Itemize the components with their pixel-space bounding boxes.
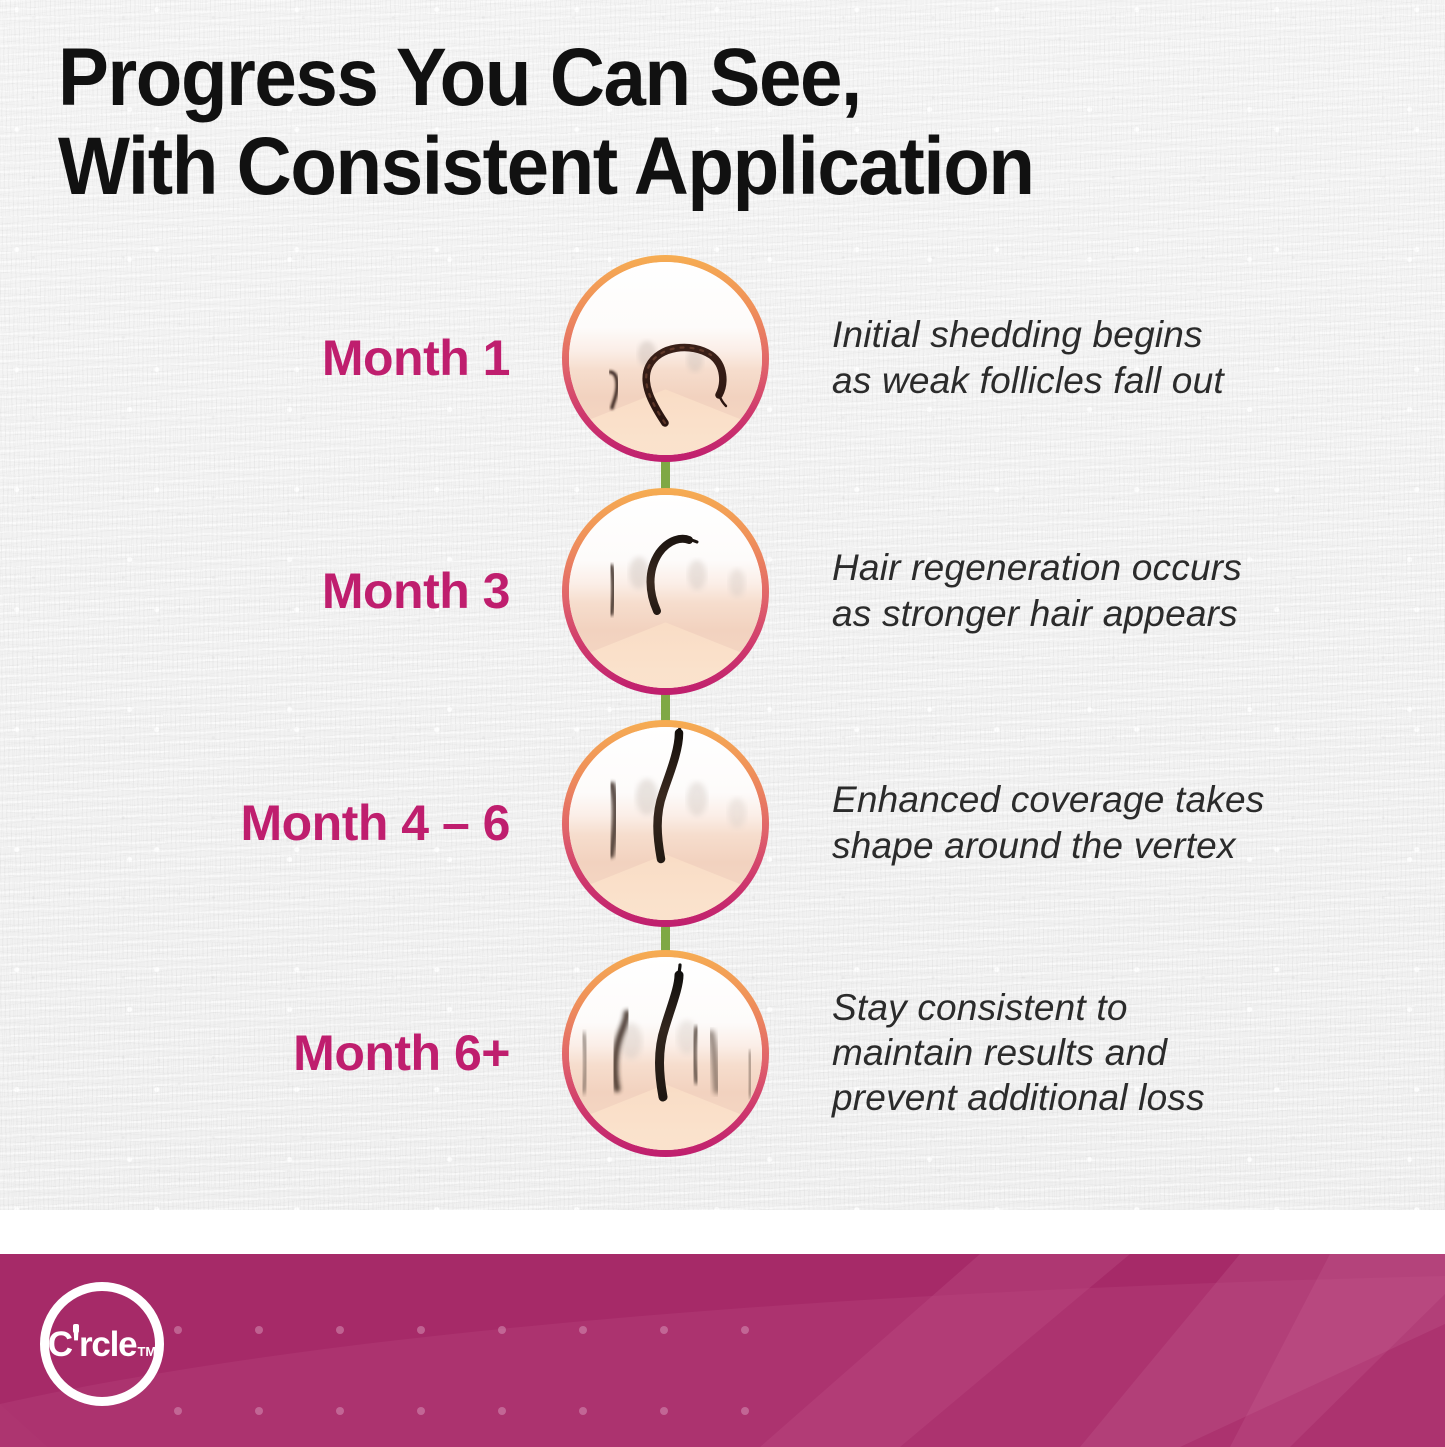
scalp-single-new-hair-illustration	[569, 495, 762, 688]
brand-footer: C'rcle TM	[0, 1254, 1445, 1447]
page-title: Progress You Can See, With Consistent Ap…	[58, 34, 1174, 211]
scalp-circle-4	[562, 950, 769, 1157]
brand-name-text: C'rcle	[48, 1327, 137, 1362]
scalp-shed-hair-illustration	[569, 262, 762, 455]
month-label-2: Month 3	[110, 483, 510, 698]
footer-separator	[0, 1210, 1445, 1254]
footer-dot-pattern	[0, 1254, 1445, 1447]
timeline-step-month-4-6: Month 4 – 6	[0, 715, 1445, 930]
scalp-multiple-hairs-illustration	[569, 957, 762, 1150]
timeline-step-month-3: Month 3	[0, 483, 1445, 698]
month-description-3: Enhanced coverage takes shape around the…	[832, 715, 1372, 930]
circle-brand-logo: C'rcle TM	[40, 1282, 164, 1406]
month-label-4: Month 6+	[110, 945, 510, 1160]
month-description-2: Hair regeneration occurs as stronger hai…	[832, 483, 1372, 698]
timeline-step-month-6-plus: Month 6+	[0, 945, 1445, 1160]
scalp-circle-1	[562, 255, 769, 462]
scalp-tall-hair-illustration	[569, 727, 762, 920]
month-description-1: Initial shedding begins as weak follicle…	[832, 250, 1372, 465]
scalp-circle-3	[562, 720, 769, 927]
month-label-3: Month 4 – 6	[110, 715, 510, 930]
month-label-1: Month 1	[110, 250, 510, 465]
progress-timeline: Month 1	[0, 245, 1445, 1205]
trademark-symbol: TM	[137, 1345, 156, 1358]
logo-apostrophe-dot	[73, 1324, 79, 1333]
month-description-4: Stay consistent to maintain results and …	[832, 945, 1372, 1160]
scalp-circle-2	[562, 488, 769, 695]
timeline-step-month-1: Month 1	[0, 250, 1445, 465]
